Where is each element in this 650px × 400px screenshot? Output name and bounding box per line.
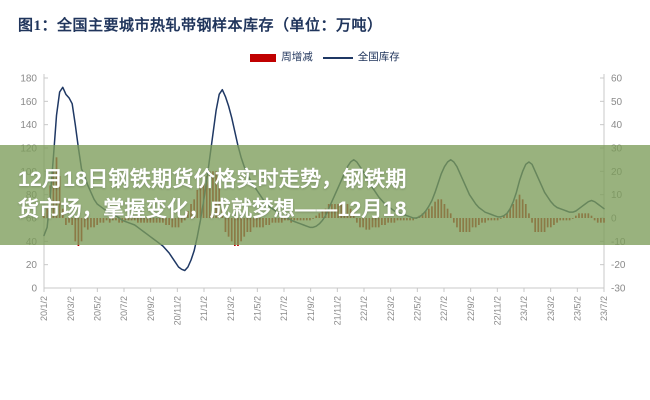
- svg-text:20/9/2: 20/9/2: [146, 296, 156, 321]
- svg-text:23/1/2: 23/1/2: [519, 296, 529, 321]
- chart-figure: 图1：全国主要城市热轧带钢样本库存（单位：万吨） 周增减 全国库存 020406…: [0, 0, 650, 400]
- svg-text:22/11/2: 22/11/2: [493, 296, 503, 325]
- overlay-line-1: 12月18日钢铁期货价格实时走势，钢铁期: [18, 165, 632, 195]
- svg-text:22/1/2: 22/1/2: [359, 296, 369, 321]
- svg-text:180: 180: [20, 74, 37, 85]
- svg-text:23/5/2: 23/5/2: [573, 296, 583, 321]
- svg-text:21/3/2: 21/3/2: [226, 296, 236, 321]
- svg-text:50: 50: [611, 97, 623, 108]
- overlay-line-2: 货市场，掌握变化，成就梦想——12月18: [18, 195, 632, 225]
- svg-text:20/3/2: 20/3/2: [66, 296, 76, 321]
- svg-text:21/5/2: 21/5/2: [253, 296, 263, 321]
- svg-text:20/11/2: 20/11/2: [173, 296, 183, 325]
- svg-text:0: 0: [31, 284, 37, 295]
- svg-text:22/9/2: 22/9/2: [466, 296, 476, 321]
- svg-text:20/1/2: 20/1/2: [39, 296, 49, 321]
- svg-text:21/9/2: 21/9/2: [306, 296, 316, 321]
- svg-text:20/7/2: 20/7/2: [119, 296, 129, 321]
- svg-text:160: 160: [20, 97, 37, 108]
- svg-text:22/5/2: 22/5/2: [413, 296, 423, 321]
- svg-text:40: 40: [611, 120, 623, 131]
- svg-text:21/7/2: 21/7/2: [279, 296, 289, 321]
- overlay-banner-text: 12月18日钢铁期货价格实时走势，钢铁期 货市场，掌握变化，成就梦想——12月1…: [0, 145, 650, 245]
- svg-text:22/3/2: 22/3/2: [386, 296, 396, 321]
- svg-text:22/7/2: 22/7/2: [439, 296, 449, 321]
- svg-text:-30: -30: [611, 284, 626, 295]
- svg-text:21/11/2: 21/11/2: [333, 296, 343, 325]
- svg-text:20: 20: [26, 260, 38, 271]
- svg-text:20/5/2: 20/5/2: [93, 296, 103, 321]
- svg-text:140: 140: [20, 120, 37, 131]
- svg-text:23/7/2: 23/7/2: [599, 296, 609, 321]
- svg-text:23/3/2: 23/3/2: [546, 296, 556, 321]
- svg-text:-20: -20: [611, 260, 626, 271]
- svg-text:60: 60: [611, 74, 623, 85]
- svg-text:21/1/2: 21/1/2: [199, 296, 209, 321]
